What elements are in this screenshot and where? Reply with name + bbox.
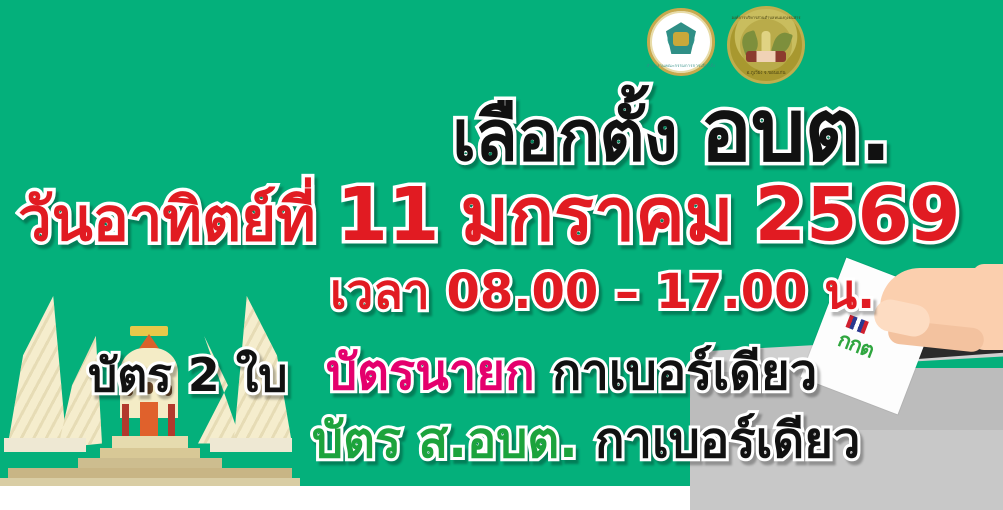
- seal-top-text: องค์การบริหารส่วนตำบลหนองกุงธนสาร: [732, 14, 801, 21]
- instruction-member: บัตร ส.อบต. กาเบอร์เดียว: [312, 416, 860, 465]
- seal-ect-thailand: สำนักงานคณะกรรมการการเลือกตั้ง: [647, 8, 715, 76]
- monument-pillar-right: [168, 404, 175, 438]
- instruction-member-ballot-label: บัตร ส.อบต.: [312, 412, 578, 469]
- instruction-mayor: บัตรนายก กาเบอร์เดียว: [326, 348, 817, 397]
- monument-base-low: [78, 458, 222, 468]
- date-day-prefix: วันอาทิตย์ที่: [18, 185, 316, 255]
- election-poster: กกต: [0, 0, 1003, 510]
- hand-casting-ballot: [862, 258, 1003, 368]
- monument-wing-outer-left: [8, 296, 66, 444]
- monument-ground: [8, 468, 292, 478]
- monument-ground-shadow: [0, 478, 300, 486]
- monument-door: [140, 402, 158, 438]
- seal-local-administration: องค์การบริหารส่วนตำบลหนองกุงธนสาร อ.ภูเว…: [727, 6, 805, 84]
- instruction-mayor-ballot-label: บัตรนายก: [326, 344, 535, 401]
- date-month: มกราคม: [460, 172, 733, 258]
- date-line: วันอาทิตย์ที่ 11 มกราคม 2569: [18, 178, 960, 252]
- monument-plinth-right: [210, 438, 292, 452]
- time-line: เวลา 08.00 – 17.00 น.: [330, 268, 875, 316]
- monument-pillar-left: [122, 404, 129, 438]
- monument-base-mid: [100, 448, 200, 458]
- instruction-member-action: กาเบอร์เดียว: [595, 412, 861, 469]
- headline-prefix: เลือกตั้ง: [452, 95, 677, 177]
- seal-figure-icon: [762, 31, 771, 53]
- ballot-count-label: บัตร 2 ใบ: [88, 352, 287, 398]
- headline: เลือกตั้ง อบต.: [452, 88, 891, 174]
- monument-base-top: [112, 436, 188, 448]
- instruction-mayor-action: กาเบอร์เดียว: [552, 344, 818, 401]
- headline-emphasis: อบต.: [700, 81, 891, 181]
- date-year: 2569: [754, 172, 960, 258]
- monument-plinth-left: [4, 438, 86, 452]
- handshake-icon: [746, 51, 786, 62]
- seal-bottom-text: อ.ภูเวียง จ.ขอนแก่น: [746, 69, 785, 76]
- date-day-number: 11: [337, 172, 440, 258]
- seal-ect-ring-text: สำนักงานคณะกรรมการการเลือกตั้ง: [647, 62, 716, 69]
